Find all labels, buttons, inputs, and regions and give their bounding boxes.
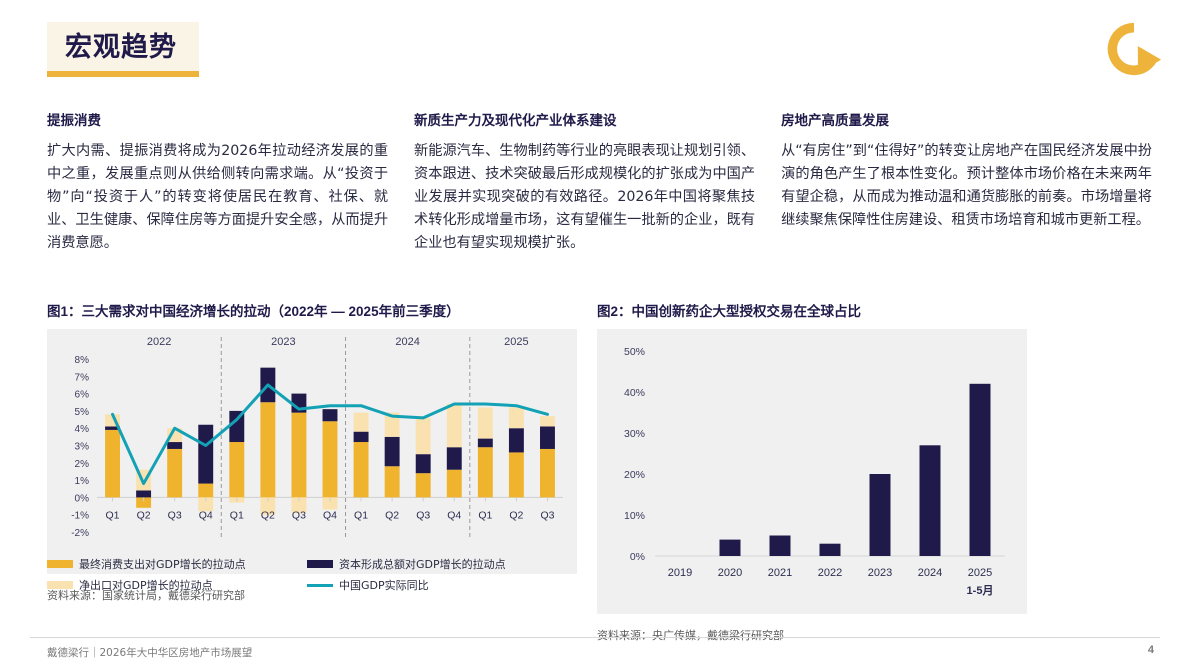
svg-text:2024: 2024 (395, 336, 419, 348)
svg-text:Q1: Q1 (478, 510, 492, 522)
insight-body-1: 扩大内需、提振消费将成为2026年拉动经济发展的重中之重，发展重点则从供给侧转向… (47, 140, 388, 255)
page-title: 宏观趋势 (65, 32, 177, 63)
chart1-svg: 8%7%6%5%4%3%2%1%0%-1%-2%2022202320242025… (47, 329, 577, 574)
svg-text:2024: 2024 (918, 567, 942, 579)
svg-text:Q2: Q2 (137, 510, 151, 522)
svg-text:2025: 2025 (968, 567, 992, 579)
chart1-canvas: 8%7%6%5%4%3%2%1%0%-1%-2%2022202320242025… (47, 329, 577, 574)
svg-text:Q1: Q1 (230, 510, 244, 522)
insight-column-2: 新质生产力及现代化产业体系建设 新能源汽车、生物制药等行业的亮眼表现让规划引领、… (414, 112, 755, 255)
page-title-banner: 宏观趋势 (47, 22, 199, 77)
svg-text:2025: 2025 (504, 336, 528, 348)
legend-label-3: 中国GDP实际同比 (339, 577, 429, 593)
svg-text:-2%: -2% (71, 528, 89, 539)
chart2-title: 图2：中国创新药企大型授权交易在全球占比 (597, 300, 1027, 320)
chart2-block: 图2：中国创新药企大型授权交易在全球占比 0%10%20%30%40%50%20… (597, 300, 1027, 643)
legend-item-0: 最终消费支出对GDP增长的拉动点 (47, 556, 297, 572)
legend-label-2: 净出口对GDP增长的拉动点 (79, 577, 213, 593)
svg-text:2020: 2020 (718, 567, 742, 579)
svg-text:7%: 7% (75, 372, 90, 383)
chart1-legend: 最终消费支出对GDP增长的拉动点 资本形成总额对GDP增长的拉动点 净出口对GD… (47, 556, 577, 593)
chart2-svg: 0%10%20%30%40%50%20192020202120222023202… (597, 329, 1027, 614)
legend-item-1: 资本形成总额对GDP增长的拉动点 (307, 556, 557, 572)
svg-text:0%: 0% (630, 551, 645, 563)
legend-label-0: 最终消费支出对GDP增长的拉动点 (79, 556, 246, 572)
legend-swatch-consumption (47, 560, 73, 568)
svg-text:2022: 2022 (818, 567, 842, 579)
svg-text:Q4: Q4 (199, 510, 213, 522)
chart2-canvas: 0%10%20%30%40%50%20192020202120222023202… (597, 329, 1027, 614)
svg-text:2022: 2022 (147, 336, 171, 348)
svg-text:8%: 8% (75, 355, 90, 366)
svg-text:Q2: Q2 (509, 510, 523, 522)
footer-text: 戴德梁行｜2026年大中华区房地产市场展望 (47, 645, 252, 660)
page-number: 4 (1148, 644, 1154, 656)
insight-body-2: 新能源汽车、生物制药等行业的亮眼表现让规划引领、资本跟进、技术突破最后形成规模化… (414, 140, 755, 255)
svg-text:Q3: Q3 (168, 510, 182, 522)
svg-text:Q1: Q1 (106, 510, 120, 522)
svg-text:Q1: Q1 (354, 510, 368, 522)
svg-text:Q3: Q3 (292, 510, 306, 522)
svg-text:20%: 20% (624, 469, 645, 481)
svg-text:40%: 40% (624, 387, 645, 399)
svg-text:Q2: Q2 (385, 510, 399, 522)
legend-item-2: 净出口对GDP增长的拉动点 (47, 577, 297, 593)
insight-body-3: 从“有房住”到“住得好”的转变让房地产在国民经济发展中扮演的角色产生了根本性变化… (781, 140, 1152, 232)
svg-text:Q2: Q2 (261, 510, 275, 522)
svg-text:0%: 0% (75, 493, 90, 504)
slide-page: 宏观趋势 提振消费 扩大内需、提振消费将成为2026年拉动经济发展的重中之重，发… (0, 0, 1190, 669)
insight-heading-2: 新质生产力及现代化产业体系建设 (414, 112, 755, 130)
svg-text:Q4: Q4 (447, 510, 461, 522)
svg-text:2023: 2023 (868, 567, 892, 579)
svg-text:Q4: Q4 (323, 510, 337, 522)
legend-swatch-capital (307, 560, 333, 568)
svg-text:2%: 2% (75, 459, 90, 470)
svg-text:30%: 30% (624, 428, 645, 440)
legend-label-1: 资本形成总额对GDP增长的拉动点 (339, 556, 506, 572)
svg-text:2023: 2023 (271, 336, 295, 348)
svg-text:2021: 2021 (768, 567, 792, 579)
svg-text:2019: 2019 (668, 567, 692, 579)
legend-item-3: 中国GDP实际同比 (307, 577, 557, 593)
svg-text:6%: 6% (75, 390, 90, 401)
svg-text:-1%: -1% (71, 511, 89, 522)
circular-arrow-logo-icon (1103, 18, 1165, 80)
legend-swatch-gdp-line (307, 584, 333, 587)
svg-text:4%: 4% (75, 424, 90, 435)
svg-text:50%: 50% (624, 346, 645, 358)
footer-divider (30, 637, 1160, 638)
legend-swatch-netexport (47, 581, 73, 589)
insight-column-3: 房地产高质量发展 从“有房住”到“住得好”的转变让房地产在国民经济发展中扮演的角… (781, 112, 1152, 255)
svg-text:1-5月: 1-5月 (967, 584, 994, 597)
insight-heading-3: 房地产高质量发展 (781, 112, 1152, 130)
svg-text:3%: 3% (75, 442, 90, 453)
insight-column-1: 提振消费 扩大内需、提振消费将成为2026年拉动经济发展的重中之重，发展重点则从… (47, 112, 388, 255)
svg-text:1%: 1% (75, 476, 90, 487)
svg-text:Q3: Q3 (416, 510, 430, 522)
insight-columns: 提振消费 扩大内需、提振消费将成为2026年拉动经济发展的重中之重，发展重点则从… (47, 112, 1152, 255)
svg-text:5%: 5% (75, 407, 90, 418)
chart2-source: 资料来源：央广传媒，戴德梁行研究部 (597, 627, 1027, 643)
svg-text:10%: 10% (624, 510, 645, 522)
insight-heading-1: 提振消费 (47, 112, 388, 130)
chart1-title: 图1：三大需求对中国经济增长的拉动（2022年 — 2025年前三季度） (47, 300, 577, 320)
svg-text:Q3: Q3 (540, 510, 554, 522)
